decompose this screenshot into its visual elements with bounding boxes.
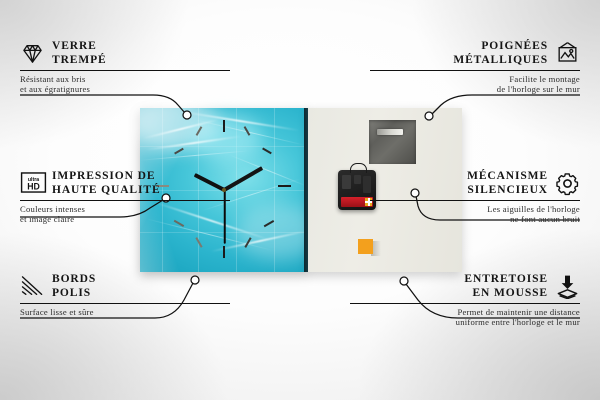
battery-part	[341, 197, 373, 207]
callout-header: ultra HD IMPRESSION DE HAUTE QUALITÉ	[20, 170, 230, 197]
callout-subtitle: Les aiguilles de l'horloge ne font aucun…	[370, 204, 580, 225]
mechanism-hanging-loop	[350, 163, 367, 173]
callout-rule	[20, 303, 230, 304]
callout-rule	[370, 70, 580, 71]
callout-bords-polis[interactable]: BORDS POLIS Surface lisse et sûre	[20, 273, 230, 317]
clock-tick	[278, 185, 291, 187]
callout-subtitle: Facilite le montage de l'horloge sur le …	[370, 74, 580, 95]
callout-title: POIGNÉES MÉTALLIQUES	[453, 40, 548, 67]
ultra-hd-icon: ultra HD	[20, 171, 45, 196]
hanging-frame-icon	[555, 41, 580, 66]
infographic-stage: VERRE TREMPÉ Résistant aux bris et aux é…	[0, 0, 600, 400]
gear-icon	[555, 171, 580, 196]
clock-tick	[262, 148, 272, 155]
callout-rule	[20, 70, 230, 71]
mechanism-detail	[342, 175, 351, 189]
callout-header: ENTRETOISE EN MOUSSE	[350, 273, 580, 300]
callout-subtitle: Résistant aux bris et aux égratignures	[20, 74, 230, 95]
callout-subtitle: Couleurs intenses et image claire	[20, 204, 230, 225]
callout-rule	[350, 303, 580, 304]
callout-title: VERRE TREMPÉ	[52, 40, 107, 67]
callout-subtitle: Permet de maintenir une distance uniform…	[350, 307, 580, 328]
callout-entretoise-mousse[interactable]: ENTRETOISE EN MOUSSE Permet de maintenir…	[350, 273, 580, 328]
svg-text:HD: HD	[27, 182, 40, 192]
callout-verre-trempe[interactable]: VERRE TREMPÉ Résistant aux bris et aux é…	[20, 40, 230, 95]
callout-rule	[370, 200, 580, 201]
callout-rule	[20, 200, 230, 201]
callout-mecanisme-silencieux[interactable]: MÉCANISME SILENCIEUX Les aiguilles de l'…	[370, 170, 580, 225]
callout-poignees-metalliques[interactable]: POIGNÉES MÉTALLIQUES Facilite le montage…	[370, 40, 580, 95]
diamond-icon	[20, 41, 45, 66]
metal-handle-part	[369, 120, 416, 164]
callout-title: MÉCANISME SILENCIEUX	[467, 170, 548, 197]
polished-edge-icon	[20, 274, 45, 299]
metal-handle-slot	[377, 129, 403, 135]
clock-tick	[223, 246, 225, 258]
mechanism-detail	[354, 175, 361, 184]
callout-header: BORDS POLIS	[20, 273, 230, 300]
press-layers-icon	[555, 274, 580, 299]
callout-impression-hd[interactable]: ultra HD IMPRESSION DE HAUTE QUALITÉ Cou…	[20, 170, 230, 225]
callout-title: ENTRETOISE EN MOUSSE	[464, 273, 548, 300]
callout-subtitle: Surface lisse et sûre	[20, 307, 230, 318]
callout-title: IMPRESSION DE HAUTE QUALITÉ	[52, 170, 161, 197]
clock-tick	[223, 120, 225, 132]
callout-header: MÉCANISME SILENCIEUX	[370, 170, 580, 197]
foam-spacer-part	[358, 239, 373, 254]
callout-title: BORDS POLIS	[52, 273, 96, 300]
callout-header: POIGNÉES MÉTALLIQUES	[370, 40, 580, 67]
callout-header: VERRE TREMPÉ	[20, 40, 230, 67]
